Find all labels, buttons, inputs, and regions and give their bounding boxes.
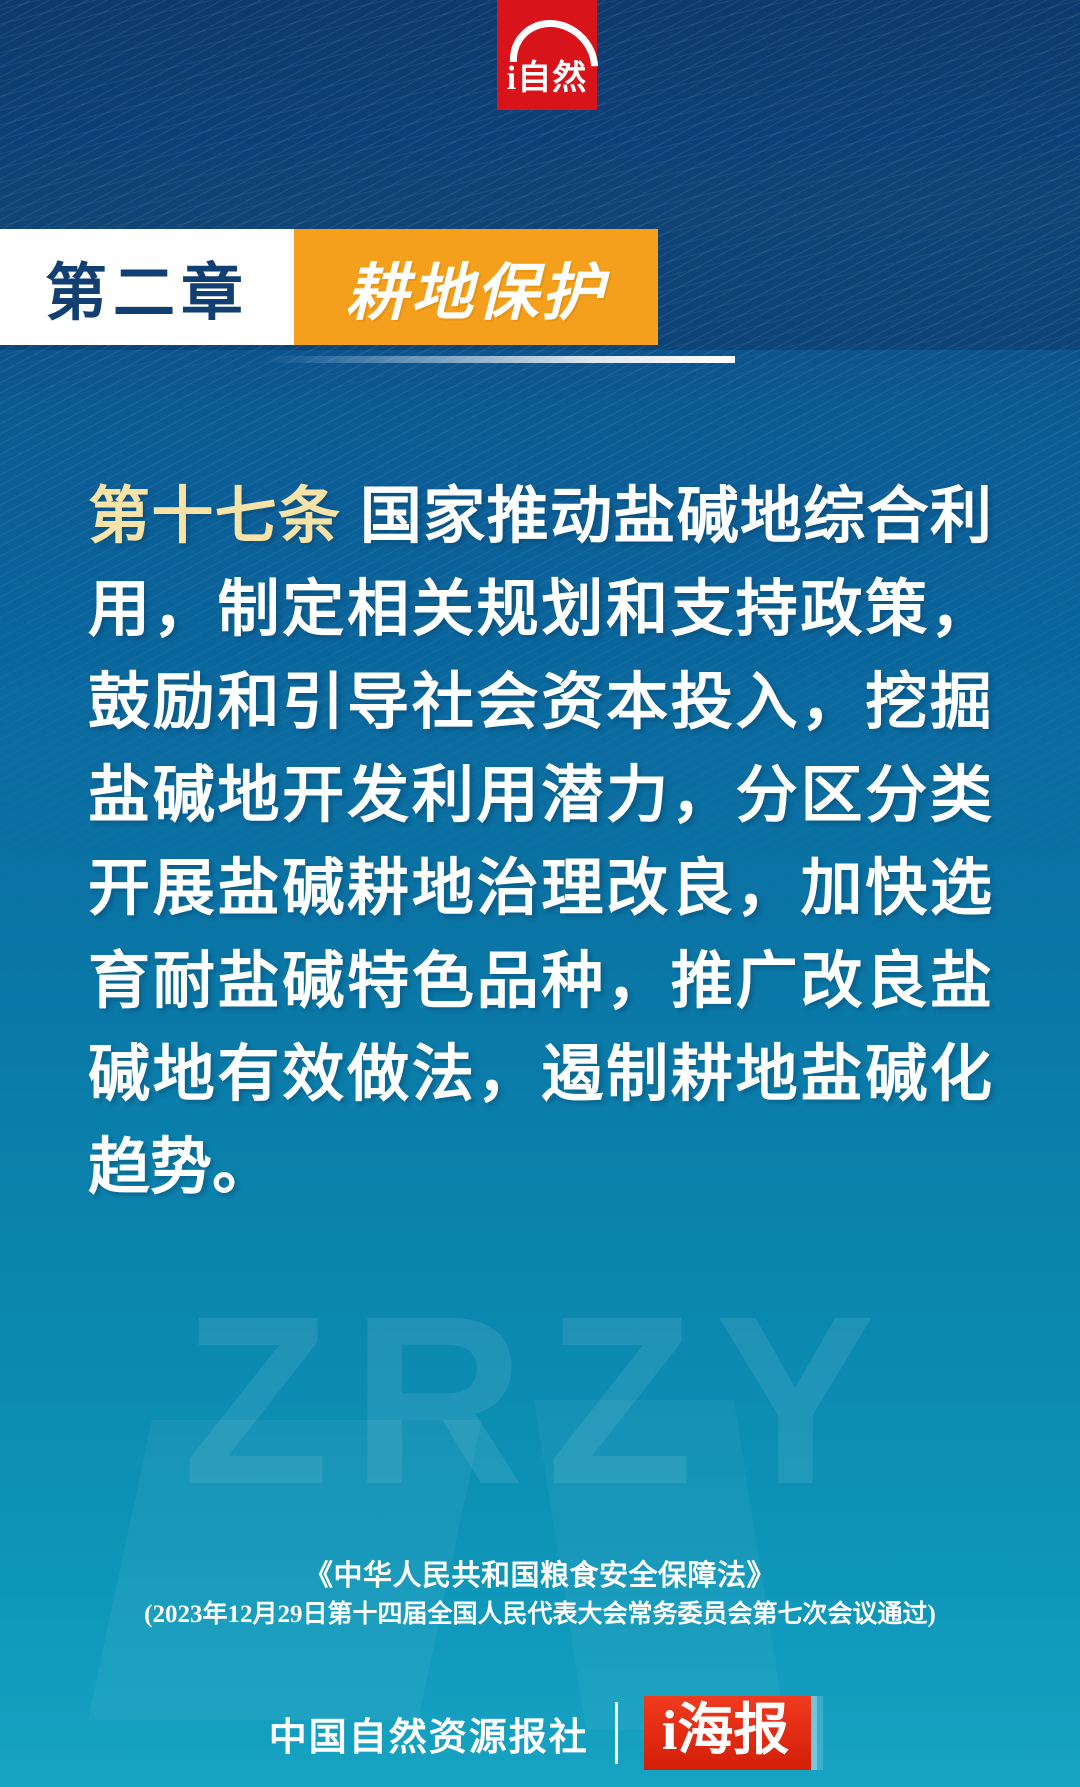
brand-logo-badge: i自然 <box>497 0 597 110</box>
poster-footer: 中国自然资源报社 i海报 <box>0 1690 1080 1776</box>
poster-canvas: i自然 第二章 耕地保护 ZRZY 第十七条 国家推动盐碱地综合利用，制定相关规… <box>0 0 1080 1787</box>
banner-underline-rule <box>0 356 735 363</box>
chapter-banner: 第二章 耕地保护 <box>0 229 658 345</box>
ihaibao-badge: i海报 <box>644 1696 812 1771</box>
source-citation: 《中华人民共和国粮食安全保障法》 (2023年12月29日第十四届全国人民代表大… <box>0 1556 1080 1634</box>
article-paragraph: 第十七条 国家推动盐碱地综合利用，制定相关规划和支持政策，鼓励和引导社会资本投入… <box>88 470 992 1214</box>
chapter-title-label: 耕地保护 <box>346 242 606 332</box>
brand-logo-label: i自然 <box>507 62 587 110</box>
footer-divider <box>615 1702 618 1764</box>
source-law-title: 《中华人民共和国粮食安全保障法》 <box>0 1556 1080 1596</box>
source-adoption-note: (2023年12月29日第十四届全国人民代表大会常务委员会第七次会议通过) <box>0 1596 1080 1634</box>
chapter-number-label: 第二章 <box>45 242 249 332</box>
chapter-title-block: 耕地保护 <box>294 229 658 345</box>
article-body: 第十七条 国家推动盐碱地综合利用，制定相关规划和支持政策，鼓励和引导社会资本投入… <box>88 470 992 1214</box>
chapter-number-block: 第二章 <box>0 229 294 345</box>
background-watermark: ZRZY <box>0 1255 1080 1545</box>
footer-organization-label: 中国自然资源报社 <box>269 1706 589 1761</box>
ihaibao-badge-label: i海报 <box>662 1702 790 1761</box>
article-number-label: 第十七条 <box>88 482 341 551</box>
article-text: 国家推动盐碱地综合利用，制定相关规划和支持政策，鼓励和引导社会资本投入，挖掘盐碱… <box>88 482 992 1202</box>
